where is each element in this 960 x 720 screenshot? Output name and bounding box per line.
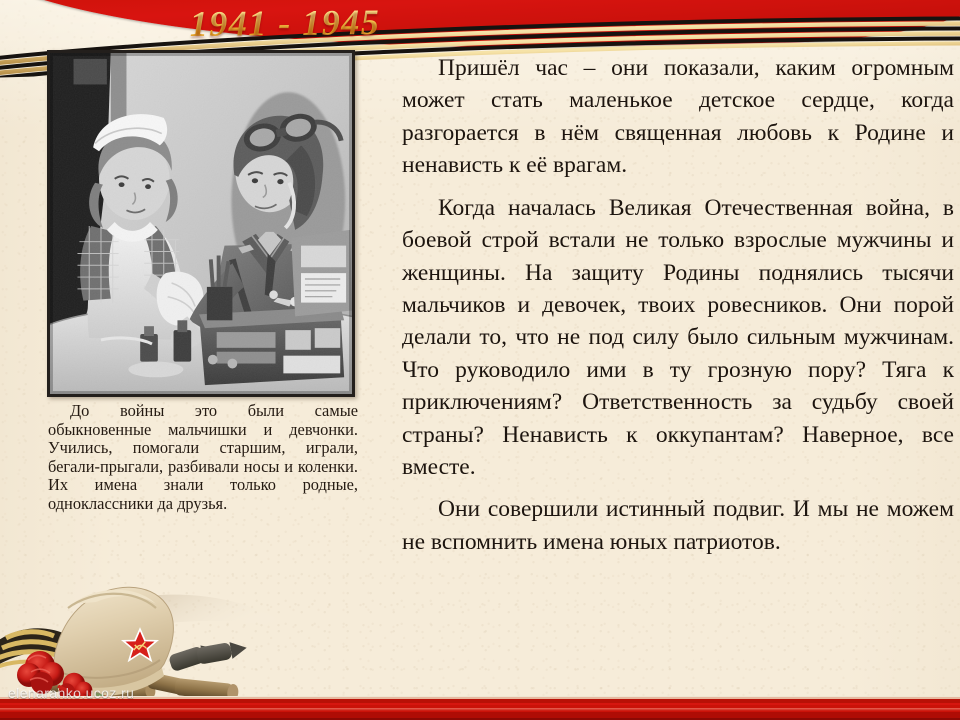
paragraph-1: Пришёл час – они показали, каким огромны…: [402, 52, 954, 182]
paragraph-3: Они совершили истинный подвиг. И мы не м…: [402, 493, 954, 558]
st-george-ribbon-icon: [0, 628, 70, 668]
main-text-column: Пришёл час – они показали, каким огромны…: [402, 52, 954, 558]
page-title: 1941 - 1945: [120, 0, 450, 45]
photo-caption: До войны это были самые обыкновенные мал…: [48, 402, 358, 513]
historical-photo: [47, 50, 355, 397]
red-star-icon: [123, 629, 157, 660]
slide-canvas: 1941 - 1945: [0, 0, 960, 720]
bottom-stripe-sheen: [0, 708, 960, 711]
paragraph-2: Когда началась Великая Отечественная вой…: [402, 192, 954, 484]
watermark: elenaranko.ucoz.ru: [8, 685, 134, 701]
pilotka-cap-icon: [53, 587, 173, 696]
